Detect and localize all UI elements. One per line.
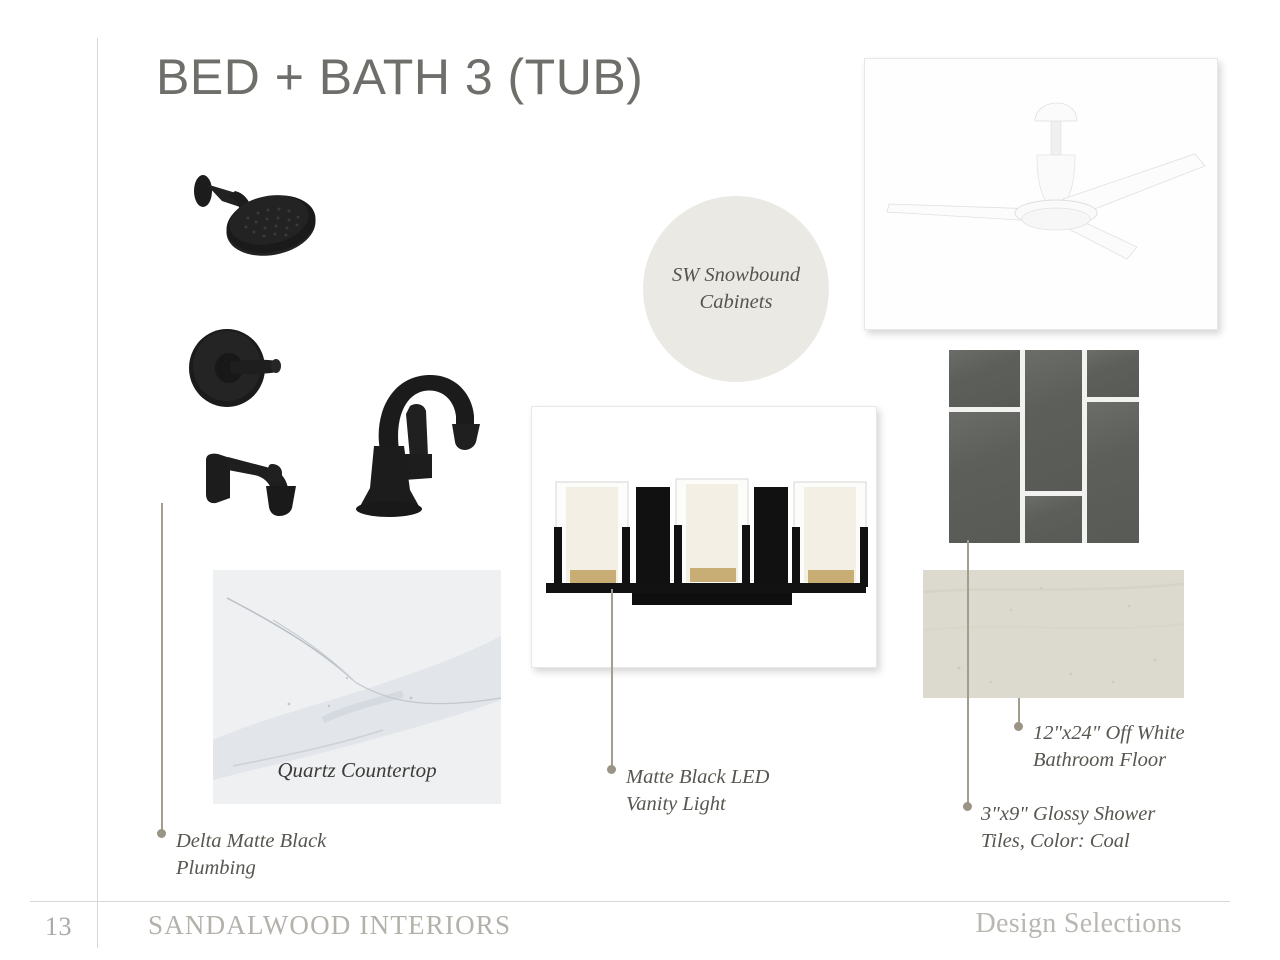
ceiling-fan-photo (864, 58, 1218, 330)
leader-dot-floor-tile (1014, 722, 1023, 731)
caption-floor-tile: 12"x24" Off White Bathroom Floor (1033, 720, 1185, 774)
floor-tile-swatch (923, 570, 1184, 698)
leader-dot-plumbing (157, 829, 166, 838)
leader-line-plumbing (161, 503, 163, 832)
left-vertical-rule (97, 38, 98, 948)
leader-dot-shower-tile (963, 802, 972, 811)
leader-line-floor-tile (1018, 698, 1020, 725)
caption-shower-tile: 3"x9" Glossy Shower Tiles, Color: Coal (981, 801, 1155, 855)
leader-line-vanity-light (611, 589, 613, 769)
showerhead-image (186, 160, 346, 280)
paint-swatch-snowbound: SW Snowbound Cabinets (643, 196, 829, 382)
quartz-countertop-swatch: Quartz Countertop (213, 570, 501, 804)
countertop-label: Quartz Countertop (213, 758, 501, 783)
page-number: 13 (45, 912, 72, 942)
section-label: Design Selections (975, 908, 1182, 940)
tub-spout-image (200, 448, 310, 518)
caption-plumbing: Delta Matte Black Plumbing (176, 828, 326, 882)
paint-swatch-label: SW Snowbound Cabinets (672, 262, 800, 315)
brand-name: SANDALWOOD INTERIORS (148, 910, 511, 941)
vanity-light-photo (531, 406, 877, 668)
lavatory-faucet-image (348, 358, 498, 528)
leader-dot-vanity-light (607, 765, 616, 774)
caption-vanity-light: Matte Black LED Vanity Light (626, 764, 769, 818)
shower-tile-swatch (949, 350, 1139, 543)
leader-line-shower-tile (967, 540, 969, 805)
footer-divider (30, 901, 1230, 902)
page-title: BED + BATH 3 (TUB) (156, 48, 643, 106)
shower-valve-trim-image (185, 325, 315, 415)
